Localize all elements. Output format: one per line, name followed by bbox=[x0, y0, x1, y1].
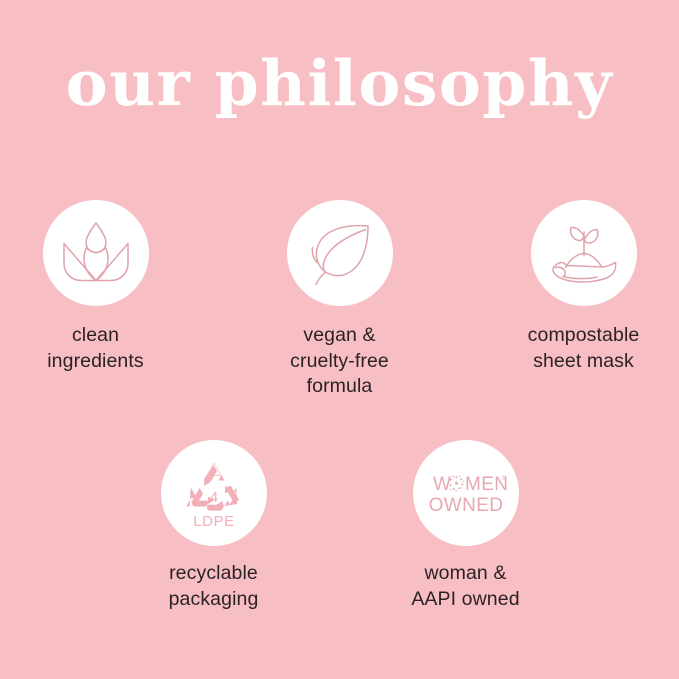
badge-label-line: vegan & bbox=[257, 323, 422, 349]
leaf-icon bbox=[305, 220, 375, 286]
badge-compostable-sheet-mask: compostable sheet mask bbox=[510, 200, 658, 374]
badge-row-bottom: 4 LDPE recyclable packaging W bbox=[0, 440, 679, 612]
badge-label-line: compostable bbox=[501, 323, 666, 349]
badge-clean-ingredients: clean ingredients bbox=[22, 200, 170, 374]
badge-label-line: clean bbox=[13, 323, 178, 349]
badge-icon-circle: W bbox=[413, 440, 519, 546]
badge-icon-circle: 4 LDPE bbox=[161, 440, 267, 546]
resin-number: 4 bbox=[209, 489, 217, 506]
badge-label-line: AAPI owned bbox=[383, 587, 548, 613]
badge-label-line: recyclable bbox=[131, 561, 296, 587]
badge-label: compostable sheet mask bbox=[501, 323, 666, 374]
badge-icon-circle bbox=[43, 200, 149, 306]
philosophy-infographic: our philosophy bbox=[0, 0, 679, 679]
badge-vegan-cruelty-free: vegan & cruelty-free formula bbox=[266, 200, 414, 400]
badge-label-line: formula bbox=[257, 374, 422, 400]
droplet-lotus-icon bbox=[59, 218, 133, 288]
badge-label: recyclable packaging bbox=[131, 561, 296, 612]
badge-icon-circle bbox=[531, 200, 637, 306]
badge-woman-aapi-owned: W bbox=[392, 440, 540, 612]
badge-recyclable-packaging: 4 LDPE recyclable packaging bbox=[140, 440, 288, 612]
badge-label: clean ingredients bbox=[13, 323, 178, 374]
resin-code: LDPE bbox=[193, 513, 235, 530]
women-owned-icon: W bbox=[424, 468, 508, 518]
badge-label-line: woman & bbox=[383, 561, 548, 587]
badge-icon-circle bbox=[287, 200, 393, 306]
badge-label-line: sheet mask bbox=[501, 349, 666, 375]
badge-label-line: cruelty-free bbox=[257, 349, 422, 375]
women-owned-owned: OWNED bbox=[428, 495, 503, 516]
hand-sprout-icon bbox=[545, 219, 623, 287]
badge-label-line: packaging bbox=[131, 587, 296, 613]
badge-label: vegan & cruelty-free formula bbox=[257, 323, 422, 400]
page-title: our philosophy bbox=[0, 52, 679, 115]
badge-row-top: clean ingredients bbox=[0, 200, 679, 400]
recycle-ldpe-icon: 4 LDPE bbox=[180, 457, 248, 529]
badge-label: woman & AAPI owned bbox=[383, 561, 548, 612]
registered-trademark-icon: ® bbox=[502, 475, 507, 482]
badge-label-line: ingredients bbox=[13, 349, 178, 375]
